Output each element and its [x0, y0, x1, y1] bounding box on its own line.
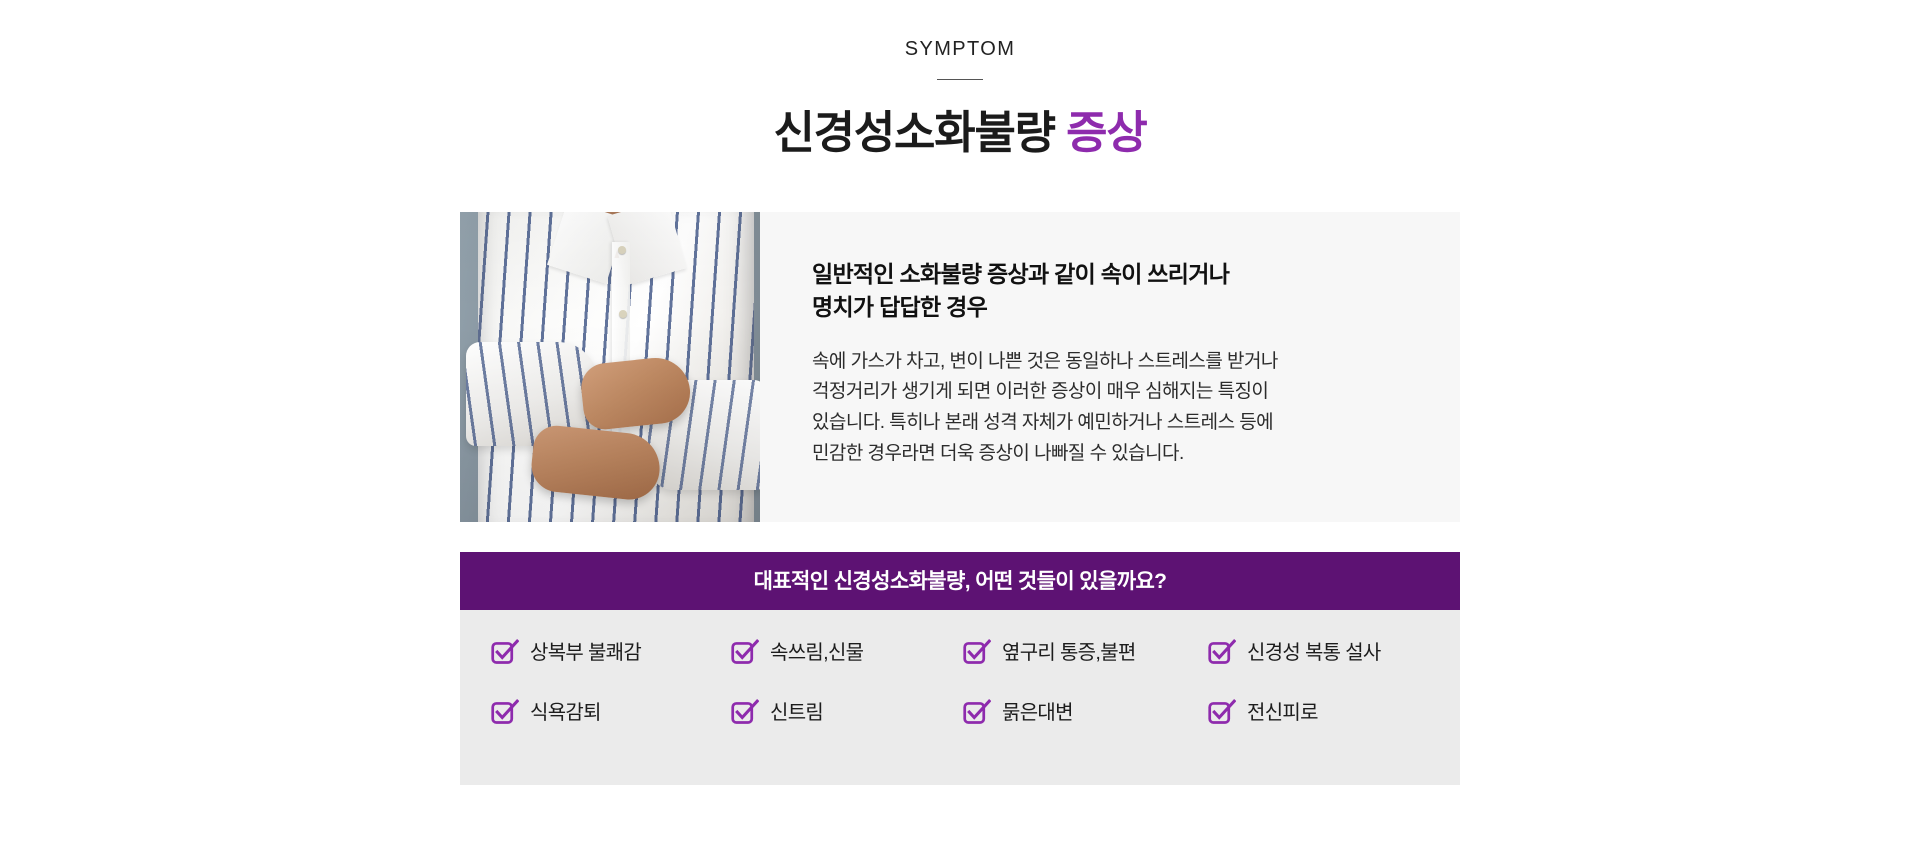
checklist-item-label: 속쓰림,신물: [770, 643, 863, 663]
check-square-icon: [730, 638, 759, 667]
checklist-row: 식욕감퇴 신트림 묽은대변: [460, 698, 1460, 758]
check-square-icon: [490, 638, 519, 667]
section-eyebrow: SYMPTOM: [0, 38, 1920, 60]
checklist-item-label: 신트림: [770, 703, 823, 723]
photo-shading-overlay: [460, 212, 760, 522]
check-square-icon: [962, 698, 991, 727]
checklist-item[interactable]: 전신피로: [1177, 698, 1460, 727]
checklist-item[interactable]: 속쓰림,신물: [700, 638, 932, 667]
question-banner: 대표적인 신경성소화불량, 어떤 것들이 있을까요?: [460, 552, 1460, 610]
symptom-info-card: 일반적인 소화불량 증상과 같이 속이 쓰리거나 명치가 답답한 경우 속에 가…: [460, 212, 1460, 522]
checklist-item[interactable]: 신경성 복통 설사: [1177, 638, 1460, 667]
checklist-item-label: 옆구리 통증,불편: [1002, 643, 1136, 663]
checklist-item-label: 신경성 복통 설사: [1247, 643, 1381, 663]
question-banner-text: 대표적인 신경성소화불량, 어떤 것들이 있을까요?: [754, 571, 1167, 592]
info-card-body: 속에 가스가 차고, 변이 나쁜 것은 동일하나 스트레스를 받거나 걱정거리가…: [812, 347, 1410, 470]
page-header: SYMPTOM 신경성소화불량 증상: [0, 38, 1920, 189]
check-square-icon: [962, 638, 991, 667]
checklist-item-label: 전신피로: [1247, 703, 1318, 723]
check-square-icon: [1207, 638, 1236, 667]
page-title-main: 신경성소화불량: [773, 107, 1054, 158]
info-card-heading: 일반적인 소화불량 증상과 같이 속이 쓰리거나 명치가 답답한 경우: [812, 258, 1410, 325]
page-title: 신경성소화불량 증상: [0, 106, 1920, 159]
checklist-item[interactable]: 옆구리 통증,불편: [932, 638, 1177, 667]
symptom-checklist: 상복부 불쾌감 속쓰림,신물 옆구리 통증,불편: [460, 610, 1460, 785]
info-card-text: 일반적인 소화불량 증상과 같이 속이 쓰리거나 명치가 답답한 경우 속에 가…: [760, 212, 1460, 522]
checklist-row: 상복부 불쾌감 속쓰림,신물 옆구리 통증,불편: [460, 638, 1460, 698]
checklist-item[interactable]: 신트림: [700, 698, 932, 727]
check-square-icon: [490, 698, 519, 727]
checklist-item[interactable]: 상복부 불쾌감: [460, 638, 700, 667]
checklist-item[interactable]: 묽은대변: [932, 698, 1177, 727]
checklist-item-label: 묽은대변: [1002, 703, 1073, 723]
checklist-item[interactable]: 식욕감퇴: [460, 698, 700, 727]
checklist-item-label: 식욕감퇴: [530, 703, 601, 723]
check-square-icon: [730, 698, 759, 727]
page-title-accent: 증상: [1066, 107, 1146, 158]
checklist-item-label: 상복부 불쾌감: [530, 643, 641, 663]
check-square-icon: [1207, 698, 1236, 727]
symptom-page: SYMPTOM 신경성소화불량 증상 일반적인 소화불량 증상과 같이 속이 쓰…: [0, 0, 1920, 865]
patient-photo: [460, 212, 760, 522]
title-divider: [937, 79, 983, 80]
